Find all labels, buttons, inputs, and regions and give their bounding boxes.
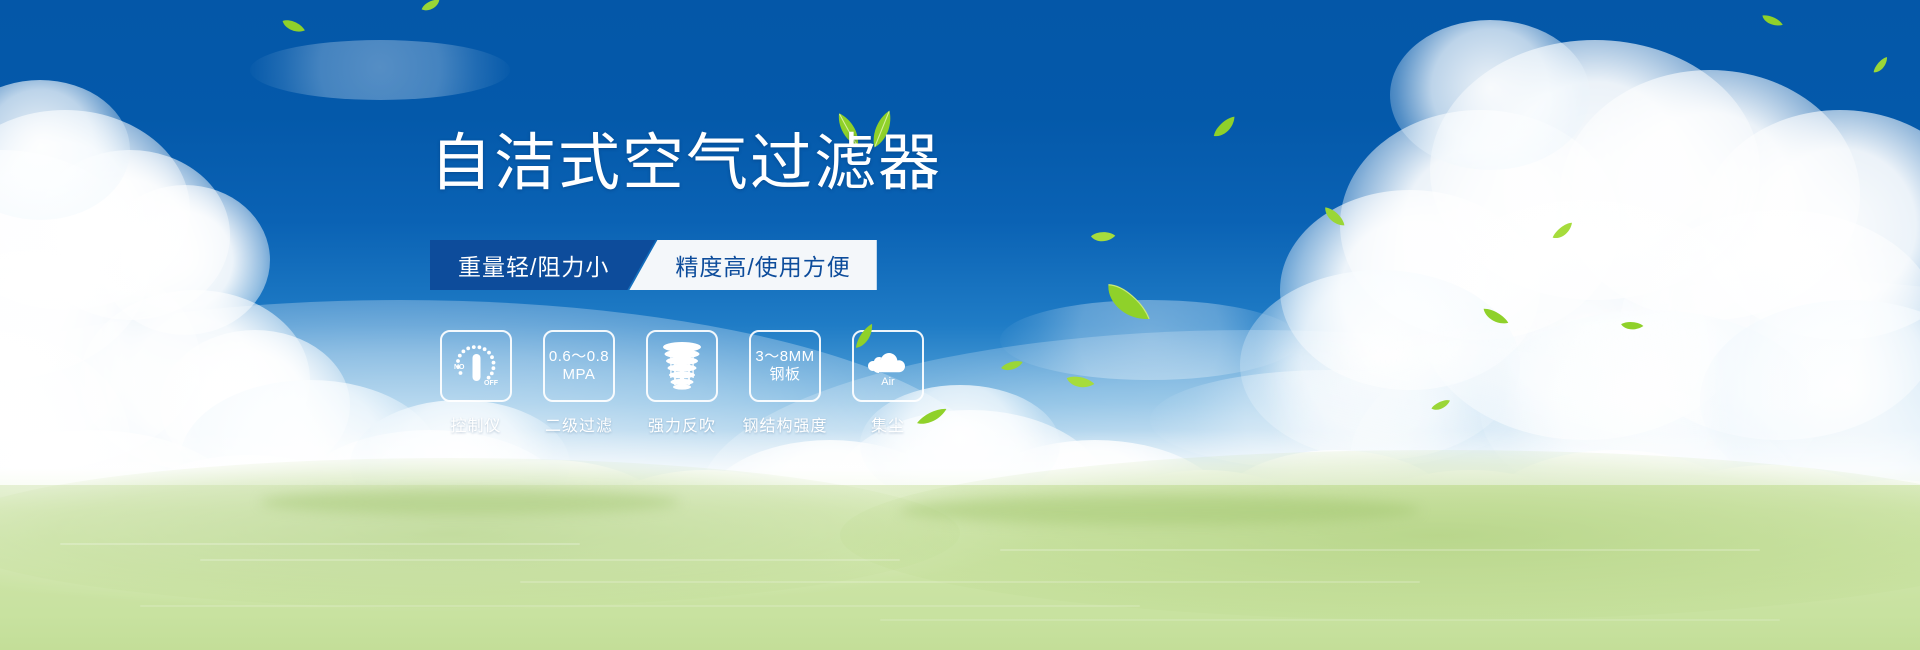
- feature-box: 0.6～0.8 MPA: [543, 330, 615, 402]
- feature-label: 控制仪: [450, 412, 501, 436]
- feature-box: NO OFF: [440, 330, 512, 402]
- filter-cartridge-icon: [657, 340, 707, 392]
- feature-label: 钢结构强度: [743, 412, 828, 436]
- steel-thickness-text: 3～8MM: [755, 348, 814, 366]
- gauge-dial-icon: NO OFF: [448, 341, 504, 391]
- tab-weight-resistance[interactable]: 重量轻/阻力小: [430, 240, 655, 290]
- steel-plate-text: 钢板: [769, 366, 800, 384]
- feature-box: Air: [852, 330, 924, 402]
- feature-box: 3～8MM 钢板: [749, 330, 821, 402]
- leaf-accent-icon-2: [914, 406, 950, 428]
- feature-icon-row: NO OFF 控制仪 0.6～0.8 MPA 二级过滤: [438, 330, 926, 436]
- feature-box: [646, 330, 718, 402]
- tagline-tabs: 重量轻/阻力小 精度高/使用方便: [430, 240, 877, 290]
- tab-precision-convenience[interactable]: 精度高/使用方便: [629, 240, 876, 290]
- page-title: 自洁式空气过滤器: [430, 133, 942, 195]
- feature-item-steel-strength[interactable]: 3～8MM 钢板 钢结构强度: [747, 330, 823, 436]
- feature-item-two-stage-filter[interactable]: 0.6～0.8 MPA 二级过滤: [541, 330, 617, 436]
- air-cloud-icon: Air: [860, 347, 916, 387]
- air-label: Air: [881, 376, 895, 387]
- feature-item-back-blow[interactable]: 强力反吹: [644, 330, 720, 436]
- pressure-unit-text: MPA: [563, 366, 596, 384]
- feature-label: 二级过滤: [545, 412, 613, 436]
- feature-label: 集尘: [871, 412, 905, 436]
- hero-banner: 自洁式空气过滤器 重量轻/阻力小 精度高/使用方便: [0, 0, 1920, 650]
- svg-text:NO: NO: [454, 364, 465, 371]
- feature-item-controller[interactable]: NO OFF 控制仪: [438, 330, 514, 436]
- svg-text:OFF: OFF: [484, 380, 499, 387]
- feature-label: 强力反吹: [648, 412, 716, 436]
- feature-item-dust-collection[interactable]: Air 集尘: [850, 330, 926, 436]
- pressure-range-text: 0.6～0.8: [549, 348, 609, 366]
